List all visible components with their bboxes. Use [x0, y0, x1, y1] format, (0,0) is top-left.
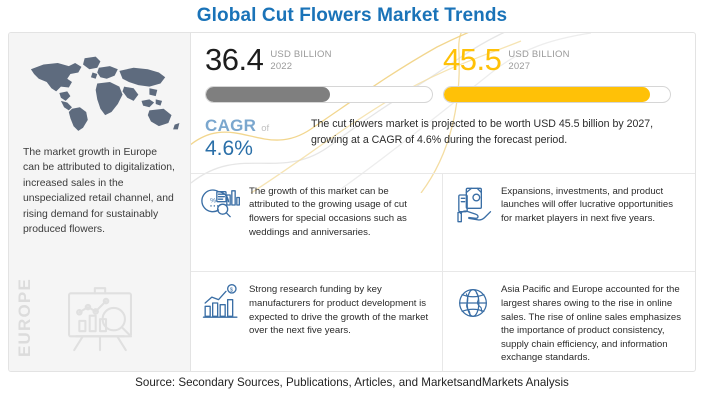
globe-icon [453, 283, 493, 323]
stats-row: 36.4 USD BILLION 2022 45.5 USD [191, 33, 695, 108]
key-point-item: Expansions, investments, and product lau… [443, 174, 695, 273]
region-label: EUROPE [15, 278, 35, 357]
world-map-icon [23, 49, 181, 137]
market-analytics-pie-bar-search-icon: % [201, 185, 241, 225]
region-description: The market growth in Europe can be attri… [23, 145, 176, 237]
stat-unit-text: USD BILLION [508, 49, 569, 60]
cagr-top: CAGR of [205, 116, 309, 136]
key-point-item: % The growth of [191, 174, 443, 273]
stat-block-2027: 45.5 USD BILLION 2027 [443, 43, 681, 108]
stat-head: 36.4 USD BILLION 2022 [205, 43, 433, 83]
cagr-of-label: of [261, 123, 269, 134]
hand-holding-money-icon [453, 185, 493, 225]
main-content-card: The market growth in Europe can be attri… [8, 32, 696, 372]
key-point-item: Asia Pacific and Europe accounted for th… [443, 272, 695, 371]
stat-block-2022: 36.4 USD BILLION 2022 [205, 43, 443, 108]
infographic-root: Global Cut Flowers Market Trends [0, 0, 704, 409]
key-point-text: Asia Pacific and Europe accounted for th… [501, 282, 683, 365]
stat-unit-2027: USD BILLION 2027 [508, 43, 569, 73]
svg-text:%: % [210, 197, 216, 204]
key-point-text: Expansions, investments, and product lau… [501, 184, 683, 266]
cagr-row: CAGR of 4.6% The cut flowers market is p… [191, 108, 695, 172]
key-point-text: The growth of this market can be attribu… [249, 184, 430, 266]
stat-head: 45.5 USD BILLION 2027 [443, 43, 671, 83]
title-bar: Global Cut Flowers Market Trends [0, 0, 704, 32]
bar-chart-growth-dollar-icon: $ [201, 283, 241, 323]
stat-year-2027: 2027 [508, 61, 569, 73]
progress-bar-2022 [205, 86, 433, 103]
stat-year-2022: 2022 [270, 61, 331, 73]
key-point-text: Strong research funding by key manufactu… [249, 282, 430, 365]
progress-bar-fill-2027 [444, 87, 650, 102]
stat-value-2027: 45.5 [443, 43, 501, 76]
key-point-item: $ Strong research funding by key manufac… [191, 272, 443, 371]
stat-unit-2022: USD BILLION 2022 [270, 43, 331, 73]
cagr-label: CAGR [205, 116, 256, 136]
progress-bar-fill-2022 [206, 87, 330, 102]
stats-panel: 36.4 USD BILLION 2022 45.5 USD [191, 33, 695, 371]
cagr-block: CAGR of 4.6% [205, 116, 309, 172]
progress-bar-2027 [443, 86, 671, 103]
page-title: Global Cut Flowers Market Trends [197, 5, 507, 27]
presentation-board-analysis-icon [57, 283, 143, 357]
stat-value-2022: 36.4 [205, 43, 263, 76]
key-points-grid: % The growth of [191, 173, 695, 371]
stat-unit-text: USD BILLION [270, 49, 331, 60]
cagr-value: 4.6% [205, 137, 309, 161]
region-panel: The market growth in Europe can be attri… [9, 33, 191, 371]
cagr-description: The cut flowers market is projected to b… [309, 116, 681, 172]
source-footer: Source: Secondary Sources, Publications,… [0, 376, 704, 389]
